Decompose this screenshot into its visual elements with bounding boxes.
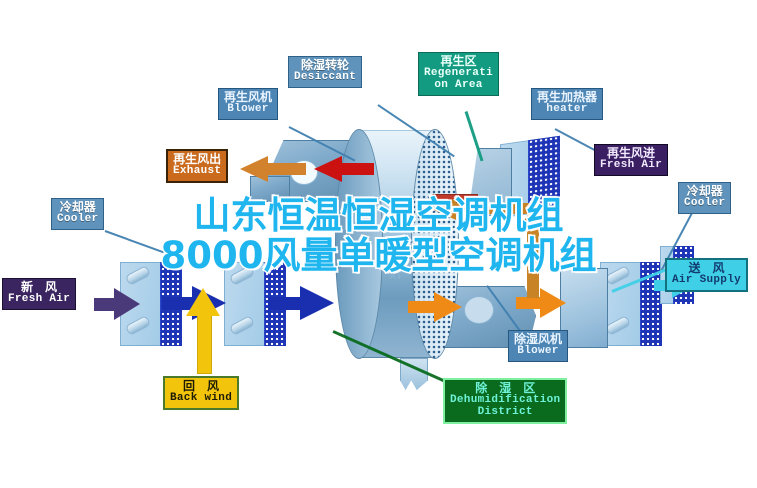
label-dehumidification-district[interactable]: 除 湿 区 Dehumidification District (443, 378, 567, 424)
label-air-supply[interactable]: 送 风 Air Supply (665, 258, 748, 292)
label-en: heater (537, 104, 597, 116)
regen-exhaust-arrow (240, 156, 306, 182)
label-regeneration-area[interactable]: 再生区 Regenerati on Area (418, 52, 499, 96)
label-en: Exhaust (173, 166, 221, 178)
arrow-head (300, 286, 334, 320)
label-cn: 再生区 (424, 55, 493, 68)
label-en-2: District (450, 407, 560, 419)
label-en: Desiccant (294, 72, 356, 84)
label-cn: 回 风 (170, 380, 232, 393)
label-regeneration-fresh-air[interactable]: 再生风进 Fresh Air (594, 144, 668, 176)
arrow-shaft (197, 312, 212, 374)
arrow-head (240, 156, 268, 182)
label-en: Fresh Air (8, 294, 70, 306)
rotor-watermark: XT (389, 271, 402, 283)
arrow-shaft (454, 203, 532, 214)
label-back-wind[interactable]: 回 风 Back wind (163, 376, 239, 410)
label-desiccant-wheel[interactable]: 除湿转轮 Desiccant (288, 56, 362, 88)
label-fresh-air-inlet[interactable]: 新 风 Fresh Air (2, 278, 76, 310)
arrow-head (432, 198, 456, 220)
label-regeneration-exhaust[interactable]: 再生风出 Exhaust (166, 149, 228, 183)
dehumidifier-diagram: XT (0, 0, 757, 488)
leader-regen-area (465, 111, 484, 161)
arrow-head (434, 292, 462, 322)
rotor-to-blower-arrow (408, 292, 464, 322)
leader-cooler-left (105, 230, 177, 258)
process-air-arrow-2 (268, 286, 338, 320)
label-cn: 新 风 (8, 281, 70, 294)
label-cn: 除湿转轮 (294, 59, 356, 72)
label-cn: 送 风 (672, 262, 741, 275)
label-cn: 再生风出 (173, 153, 221, 166)
label-en: Back wind (170, 393, 232, 405)
arrow-shaft (266, 163, 306, 175)
label-cn: 再生风进 (600, 147, 662, 160)
label-cooler-right[interactable]: 冷却器 Cooler (678, 182, 731, 214)
dehumidification-blower-outlet (464, 296, 494, 324)
arrow-head (114, 288, 140, 320)
label-cn: 再生加热器 (537, 91, 597, 104)
rotor-cap-right (411, 129, 459, 359)
label-cn: 冷却器 (57, 201, 98, 214)
regen-air-left-arrow (432, 198, 532, 220)
label-en: Air Supply (672, 275, 741, 287)
fresh-air-in-arrow (94, 288, 140, 320)
label-en: Blower (224, 104, 272, 116)
label-cn: 冷却器 (684, 185, 725, 198)
label-en-2: on Area (424, 80, 493, 92)
label-cn: 除湿风机 (514, 333, 562, 346)
label-cn: 再生风机 (224, 91, 272, 104)
label-regeneration-blower[interactable]: 再生风机 Blower (218, 88, 278, 120)
coil-mesh (528, 136, 560, 215)
label-cn: 除 湿 区 (450, 382, 560, 395)
arrow-head (186, 288, 220, 316)
label-en: Cooler (57, 214, 98, 226)
arrow-head (314, 156, 342, 182)
label-dehumidification-blower[interactable]: 除湿风机 Blower (508, 330, 568, 362)
label-cooler-left[interactable]: 冷却器 Cooler (51, 198, 104, 230)
label-regeneration-heater[interactable]: 再生加热器 heater (531, 88, 603, 120)
arrow-shaft (340, 163, 374, 175)
label-en: Cooler (684, 198, 725, 210)
label-en: Fresh Air (600, 160, 662, 172)
regen-hot-arrow (314, 156, 374, 182)
label-en: Blower (514, 346, 562, 358)
back-wind-arrow (186, 288, 220, 372)
arrow-shaft (527, 226, 539, 298)
